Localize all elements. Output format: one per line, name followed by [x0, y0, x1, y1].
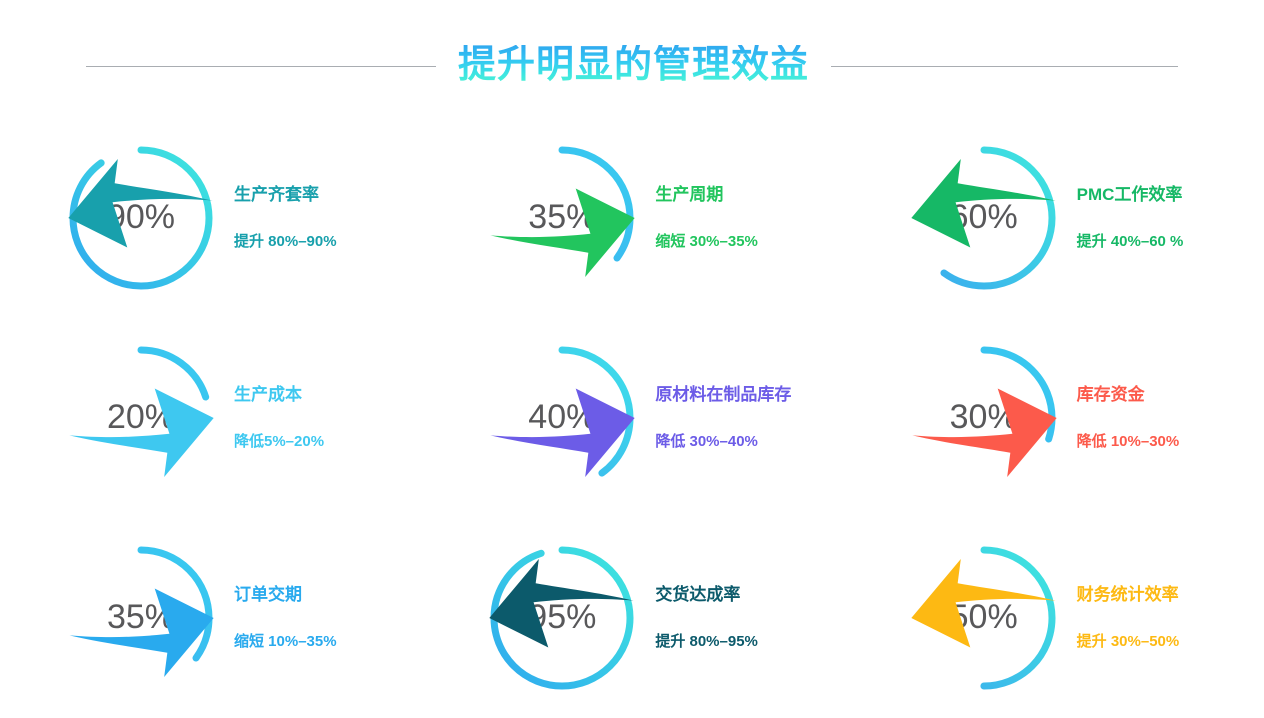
arrow-up-icon: [483, 539, 641, 697]
metric-delta: 降低5%–20%: [234, 433, 324, 451]
metric-card[interactable]: 50%财务统计效率提升 30%–50%: [843, 518, 1264, 718]
metric-label: 财务统计效率: [1077, 585, 1179, 605]
metric-card[interactable]: 35%订单交期缩短 10%–35%: [0, 518, 421, 718]
metric-text: 订单交期缩短 10%–35%: [234, 585, 337, 651]
metric-delta: 缩短 10%–35%: [234, 633, 337, 651]
gauge-center: 40%: [483, 339, 641, 497]
metric-card[interactable]: 30%库存资金降低 10%–30%: [843, 318, 1264, 518]
gauge-center: 50%: [905, 539, 1063, 697]
metric-text: 生产成本降低5%–20%: [234, 385, 324, 451]
metrics-grid: 90%生产齐套率提升 80%–90%35%生产周期缩短 30%–35%60%PM…: [0, 118, 1264, 718]
metric-label: 生产齐套率: [234, 185, 319, 205]
metric-label: 库存资金: [1077, 385, 1145, 405]
progress-ring: 40%: [483, 339, 641, 497]
metric-delta: 降低 10%–30%: [1077, 433, 1180, 451]
metric-card[interactable]: 90%生产齐套率提升 80%–90%: [0, 118, 421, 318]
arrow-down-icon: [62, 339, 220, 497]
title-rule-right: [831, 66, 1178, 67]
gauge-center: 95%: [483, 539, 641, 697]
metric-text: 库存资金降低 10%–30%: [1077, 385, 1180, 451]
title-rule-left: [86, 66, 436, 67]
metric-label: 生产周期: [655, 185, 723, 205]
metric-delta: 提升 30%–50%: [1077, 633, 1180, 651]
progress-ring: 50%: [905, 539, 1063, 697]
metric-text: PMC工作效率提升 40%–60 %: [1077, 185, 1184, 251]
metric-text: 生产周期缩短 30%–35%: [655, 185, 758, 251]
metric-card[interactable]: 95%交货达成率提升 80%–95%: [421, 518, 842, 718]
metric-delta: 降低 30%–40%: [655, 433, 758, 451]
arrow-up-icon: [905, 539, 1063, 697]
metric-text: 交货达成率提升 80%–95%: [655, 585, 758, 651]
gauge-center: 30%: [905, 339, 1063, 497]
metric-label: 订单交期: [234, 585, 302, 605]
progress-ring: 20%: [62, 339, 220, 497]
gauge-center: 60%: [905, 139, 1063, 297]
progress-ring: 60%: [905, 139, 1063, 297]
metric-card[interactable]: 35%生产周期缩短 30%–35%: [421, 118, 842, 318]
metric-text: 财务统计效率提升 30%–50%: [1077, 585, 1180, 651]
metric-label: 生产成本: [234, 385, 302, 405]
progress-ring: 35%: [62, 539, 220, 697]
metric-delta: 提升 80%–90%: [234, 233, 337, 251]
metric-delta: 提升 40%–60 %: [1077, 233, 1184, 251]
gauge-center: 35%: [483, 139, 641, 297]
progress-ring: 95%: [483, 539, 641, 697]
page-title: 提升明显的管理效益: [458, 45, 809, 87]
arrow-up-icon: [905, 139, 1063, 297]
metric-card[interactable]: 40%原材料在制品库存降低 30%–40%: [421, 318, 842, 518]
progress-ring: 90%: [62, 139, 220, 297]
metric-delta: 提升 80%–95%: [655, 633, 758, 651]
progress-ring: 30%: [905, 339, 1063, 497]
metric-card[interactable]: 60%PMC工作效率提升 40%–60 %: [843, 118, 1264, 318]
arrow-down-icon: [62, 539, 220, 697]
arrow-down-icon: [905, 339, 1063, 497]
arrow-down-icon: [483, 339, 641, 497]
gauge-center: 35%: [62, 539, 220, 697]
progress-ring: 35%: [483, 139, 641, 297]
page-header: 提升明显的管理效益: [0, 36, 1264, 96]
metric-card[interactable]: 20%生产成本降低5%–20%: [0, 318, 421, 518]
arrow-down-icon: [483, 139, 641, 297]
gauge-center: 90%: [62, 139, 220, 297]
arrow-up-icon: [62, 139, 220, 297]
metric-text: 原材料在制品库存降低 30%–40%: [655, 385, 791, 451]
metric-delta: 缩短 30%–35%: [655, 233, 758, 251]
metric-label: PMC工作效率: [1077, 185, 1183, 205]
metric-text: 生产齐套率提升 80%–90%: [234, 185, 337, 251]
metric-label: 原材料在制品库存: [655, 385, 791, 405]
gauge-center: 20%: [62, 339, 220, 497]
metric-label: 交货达成率: [655, 585, 740, 605]
